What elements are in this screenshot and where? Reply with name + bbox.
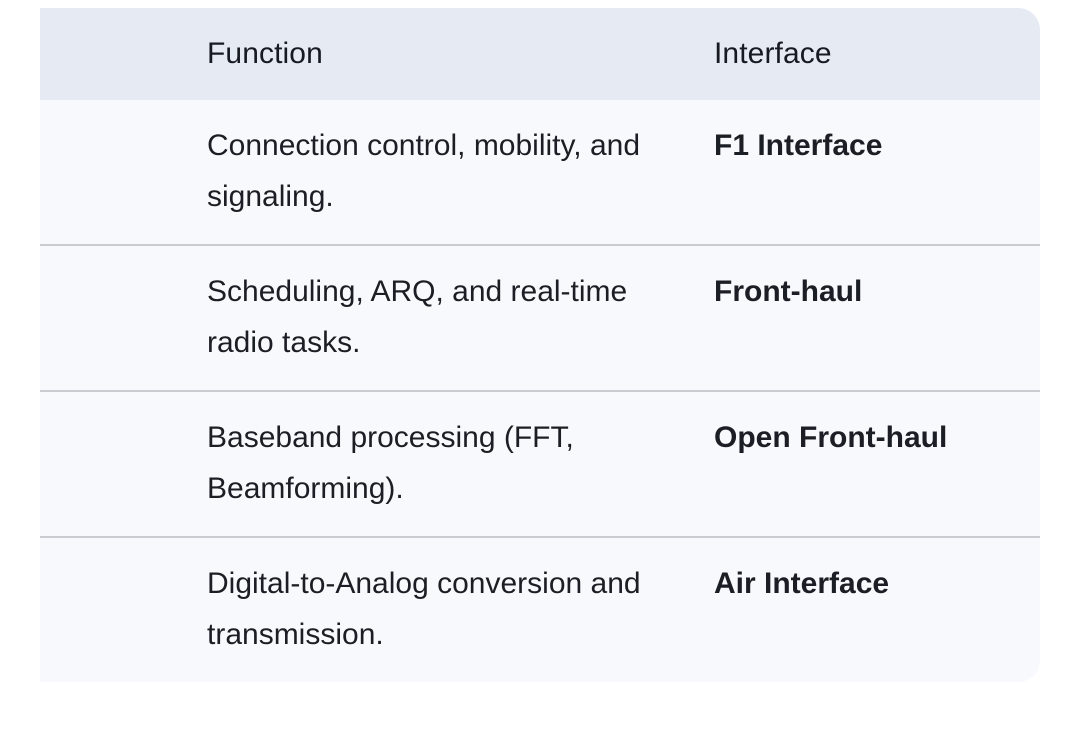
cell-function: Connection control, mobility, and signal… xyxy=(207,100,714,245)
right-page-margin xyxy=(1040,0,1080,745)
table-row[interactable]: RU Baseband processing (FFT, Beamforming… xyxy=(0,391,1040,537)
cell-interface: F1 Interface xyxy=(714,100,1040,245)
cell-interface: Front-haul xyxy=(714,245,1040,391)
column-header-interface[interactable]: Interface xyxy=(714,8,1040,100)
cell-function: Baseband processing (FFT, Beamforming). xyxy=(207,391,714,537)
component-function-interface-table: Component Function Interface Connection … xyxy=(0,8,1040,682)
cell-interface: Open Front-haul xyxy=(714,391,1040,537)
cell-interface: Air Interface xyxy=(714,537,1040,682)
table-header-row: Component Function Interface xyxy=(0,8,1040,100)
column-header-function[interactable]: Function xyxy=(207,8,714,100)
table-body: Connection control, mobility, and signal… xyxy=(0,100,1040,682)
data-table-card: Component Function Interface Connection … xyxy=(0,8,1040,682)
table-row[interactable]: Digital-to-Analog conversion and transmi… xyxy=(0,537,1040,682)
table-header: Component Function Interface xyxy=(0,8,1040,100)
cell-function: Scheduling, ARQ, and real-time radio tas… xyxy=(207,245,714,391)
cell-function: Digital-to-Analog conversion and transmi… xyxy=(207,537,714,682)
table-row[interactable]: Connection control, mobility, and signal… xyxy=(0,100,1040,245)
table-scroll-viewport[interactable]: Component Function Interface Connection … xyxy=(0,0,1080,745)
left-page-margin xyxy=(0,0,40,745)
table-row[interactable]: Scheduling, ARQ, and real-time radio tas… xyxy=(0,245,1040,391)
